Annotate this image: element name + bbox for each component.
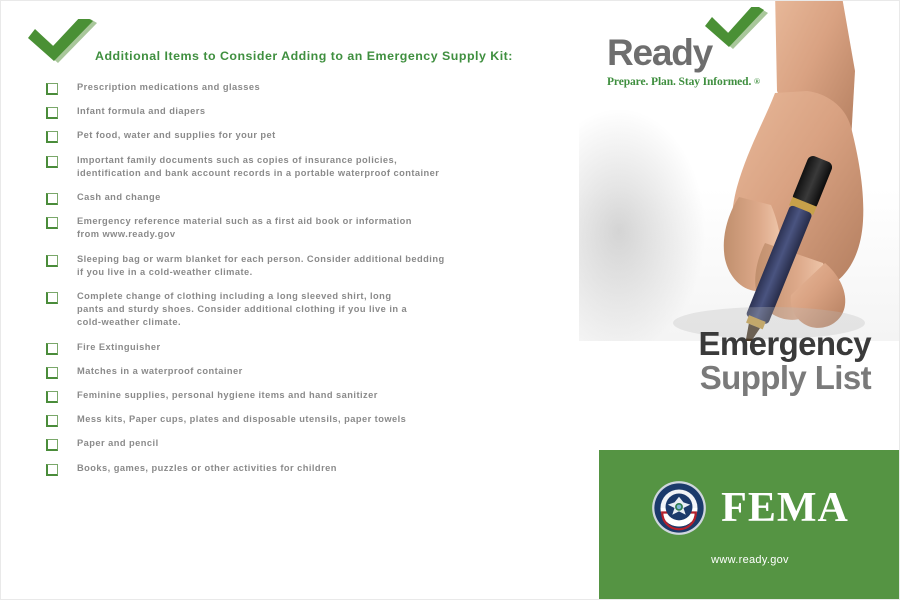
list-item[interactable]: Fire Extinguisher [45,341,555,354]
fema-panel: FEMA www.ready.gov [599,450,900,600]
checkbox-icon[interactable] [46,391,58,403]
list-item[interactable]: Mess kits, Paper cups, plates and dispos… [45,413,555,426]
checkbox-icon[interactable] [46,415,58,427]
list-item[interactable]: Pet food, water and supplies for your pe… [45,129,555,142]
brochure-page: Additional Items to Consider Adding to a… [0,0,900,600]
list-item-label: Prescription medications and glasses [77,81,555,94]
ready-gov-url[interactable]: www.ready.gov [599,554,900,566]
list-item[interactable]: Cash and change [45,191,555,204]
checkbox-icon[interactable] [46,107,58,119]
list-item-label: Feminine supplies, personal hygiene item… [77,389,555,402]
list-item[interactable]: Feminine supplies, personal hygiene item… [45,389,555,402]
page-title: Additional Items to Consider Adding to a… [95,49,513,63]
checkbox-icon[interactable] [46,367,58,379]
green-checkmark-icon [27,19,101,65]
cover-title: Emergency Supply List [579,327,900,395]
ready-logo: Ready Prepare. Plan. Stay Informed. ® [607,33,760,88]
list-item[interactable]: Important family documents such as copie… [45,154,555,180]
checkbox-icon[interactable] [46,217,58,229]
checkbox-icon[interactable] [46,83,58,95]
supply-checklist: Prescription medications and glasses Inf… [45,81,555,486]
dhs-seal-icon [651,480,707,536]
left-header: Additional Items to Consider Adding to a… [27,19,547,67]
list-item[interactable]: Prescription medications and glasses [45,81,555,94]
list-item-label: Cash and change [77,191,555,204]
list-item[interactable]: Emergency reference material such as a f… [45,215,555,241]
checkbox-icon[interactable] [46,131,58,143]
list-item-label: Books, games, puzzles or other activitie… [77,462,555,475]
list-item-label: Complete change of clothing including a … [77,290,555,330]
list-item[interactable]: Infant formula and diapers [45,105,555,118]
checkbox-icon[interactable] [46,292,58,304]
list-item-label: Fire Extinguisher [77,341,555,354]
list-item-label: Pet food, water and supplies for your pe… [77,129,555,142]
registered-mark: ® [754,77,760,86]
ready-tagline: Prepare. Plan. Stay Informed. ® [607,76,760,88]
hand-holding-pen-photo: Ready Prepare. Plan. Stay Informed. ® [579,1,900,341]
list-item[interactable]: Matches in a waterproof container [45,365,555,378]
list-item-label: Paper and pencil [77,437,555,450]
list-item-label: Sleeping bag or warm blanket for each pe… [77,253,555,279]
fema-wordmark: FEMA [721,486,849,530]
fema-logo-row: FEMA [599,480,900,536]
list-item-label: Matches in a waterproof container [77,365,555,378]
list-item-label: Important family documents such as copie… [77,154,555,180]
checkbox-icon[interactable] [46,343,58,355]
list-item[interactable]: Paper and pencil [45,437,555,450]
checkbox-icon[interactable] [46,255,58,267]
right-panel: Ready Prepare. Plan. Stay Informed. ® Em… [579,1,900,600]
green-checkmark-icon [702,7,772,51]
checkbox-icon[interactable] [46,439,58,451]
list-item-label: Mess kits, Paper cups, plates and dispos… [77,413,555,426]
checkbox-icon[interactable] [46,156,58,168]
left-panel: Additional Items to Consider Adding to a… [1,1,579,600]
list-item[interactable]: Complete change of clothing including a … [45,290,555,330]
checkbox-icon[interactable] [46,464,58,476]
list-item[interactable]: Books, games, puzzles or other activitie… [45,462,555,475]
checkbox-icon[interactable] [46,193,58,205]
list-item-label: Emergency reference material such as a f… [77,215,555,241]
tagline-text: Prepare. Plan. Stay Informed. [607,76,751,88]
title-line-emergency: Emergency [579,327,871,361]
list-item[interactable]: Sleeping bag or warm blanket for each pe… [45,253,555,279]
list-item-label: Infant formula and diapers [77,105,555,118]
title-line-supply-list: Supply List [579,361,871,395]
